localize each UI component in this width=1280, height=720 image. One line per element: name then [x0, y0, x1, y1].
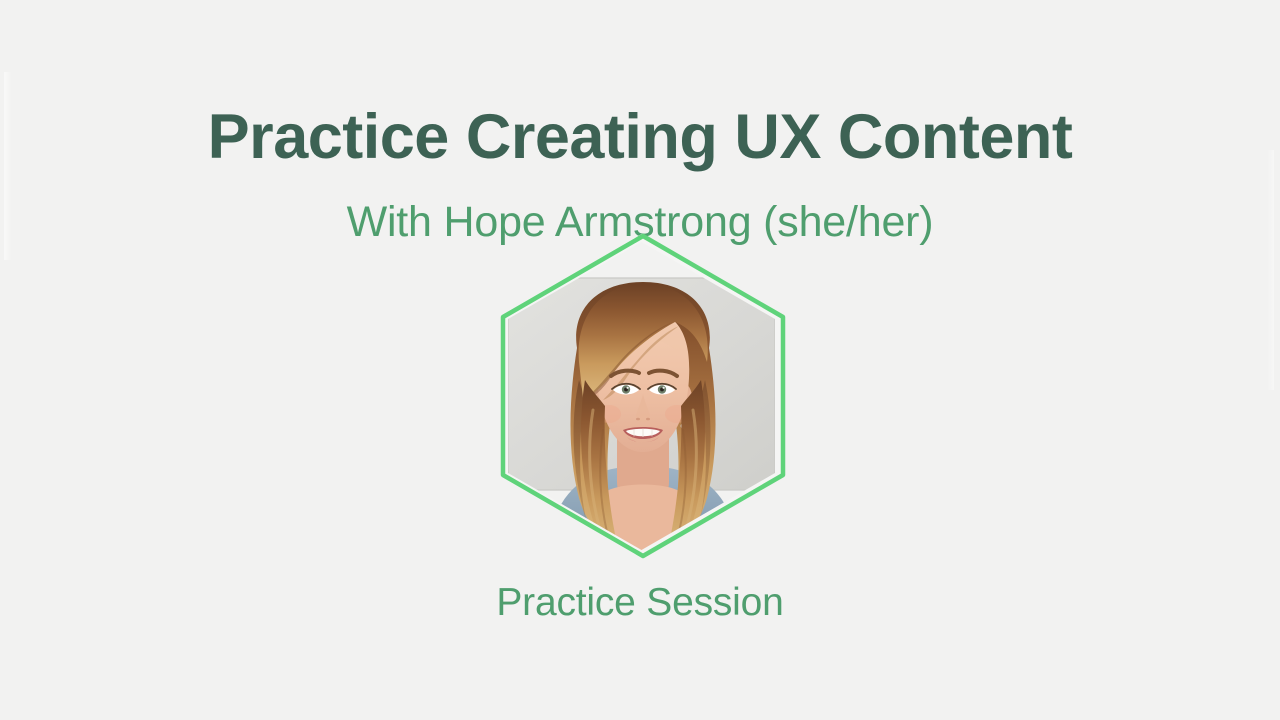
- page-title: Practice Creating UX Content: [0, 106, 1280, 169]
- presentation-slide: Practice Creating UX Content With Hope A…: [0, 0, 1280, 720]
- hexagon-avatar-graphic: [493, 230, 793, 562]
- right-edge-artifact: [1267, 150, 1274, 390]
- session-caption: Practice Session: [0, 582, 1280, 625]
- avatar: [493, 230, 793, 562]
